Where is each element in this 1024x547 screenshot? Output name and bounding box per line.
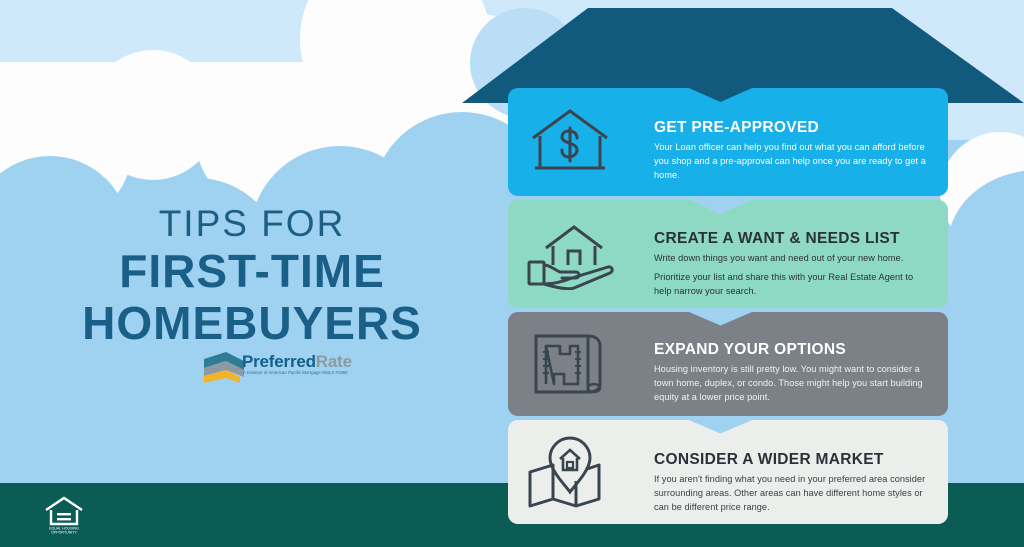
tip-title-2: CREATE A WANT & NEEDS LIST — [654, 230, 932, 247]
tip-text-panel-1: GET PRE-APPROVED Your Loan officer can h… — [632, 88, 948, 196]
tip-icon-col-3 — [508, 312, 632, 416]
tip-paragraph: Your Loan officer can help you find out … — [654, 141, 932, 183]
tip-text-panel-2: CREATE A WANT & NEEDS LIST Write down th… — [632, 200, 948, 308]
tip-body-1: Your Loan officer can help you find out … — [654, 141, 932, 183]
tip-icon-col-4 — [508, 420, 632, 524]
house-dollar-icon — [529, 106, 611, 178]
tip-paragraph: Write down things you want and need out … — [654, 252, 932, 266]
tip-paragraph: Housing inventory is still pretty low. Y… — [654, 363, 932, 405]
tip-paragraph: Prioritize your list and share this with… — [654, 271, 932, 299]
tips-list: GET PRE-APPROVED Your Loan officer can h… — [0, 0, 1024, 547]
tip-body-4: If you aren't finding what you need in y… — [654, 473, 932, 515]
tip-body-2: Write down things you want and need out … — [654, 252, 932, 299]
tip-row-2[interactable]: CREATE A WANT & NEEDS LIST Write down th… — [508, 200, 948, 308]
tip-row-1[interactable]: GET PRE-APPROVED Your Loan officer can h… — [508, 88, 948, 196]
tip-row-4[interactable]: CONSIDER A WIDER MARKET If you aren't fi… — [508, 420, 948, 524]
tip-paragraph: If you aren't finding what you need in y… — [654, 473, 932, 515]
tip-title-1: GET PRE-APPROVED — [654, 119, 932, 136]
infographic-canvas: EQUAL HOUSING OPPORTUNITY TIPS FOR FIRST… — [0, 0, 1024, 547]
tip-title-4: CONSIDER A WIDER MARKET — [654, 451, 932, 468]
tip-icon-col-1 — [508, 88, 632, 196]
tip-text-panel-4: CONSIDER A WIDER MARKET If you aren't fi… — [632, 420, 948, 524]
tip-title-3: EXPAND YOUR OPTIONS — [654, 341, 932, 358]
blueprint-icon — [530, 326, 610, 402]
map-pin-house-icon — [524, 434, 616, 510]
hand-holding-house-icon — [524, 218, 616, 290]
tip-row-3[interactable]: EXPAND YOUR OPTIONS Housing inventory is… — [508, 312, 948, 416]
tip-text-panel-3: EXPAND YOUR OPTIONS Housing inventory is… — [632, 312, 948, 416]
tip-body-3: Housing inventory is still pretty low. Y… — [654, 363, 932, 405]
tip-icon-col-2 — [508, 200, 632, 308]
